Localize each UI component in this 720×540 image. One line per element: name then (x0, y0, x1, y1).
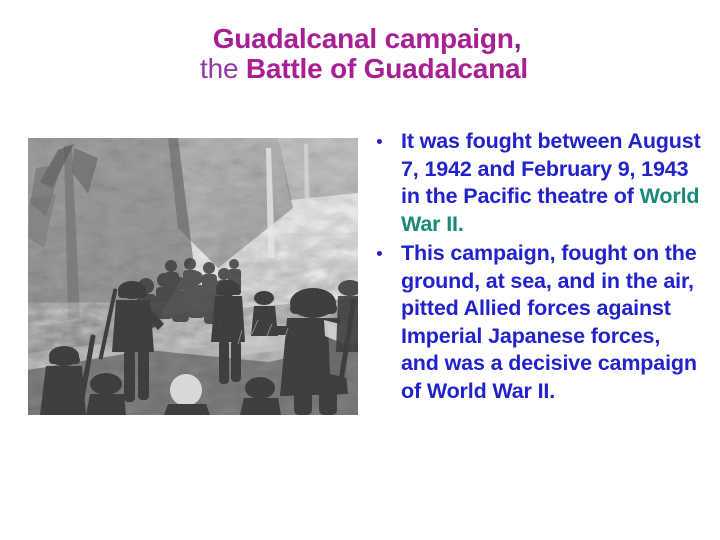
title-part-campaign: Guadalcanal campaign (213, 23, 514, 54)
bullet-dot-icon (377, 251, 382, 256)
list-item: It was fought between August 7, 1942 and… (372, 128, 702, 238)
title-line-2: the Battle of Guadalcanal (0, 54, 720, 84)
title-comma: , (514, 23, 522, 54)
page-title: Guadalcanal campaign, the Battle of Guad… (0, 24, 720, 84)
bullet-2-text: This campaign, fought on the ground, at … (401, 241, 697, 403)
title-part-battle: Battle of Guadalcanal (246, 53, 528, 84)
guadalcanal-photo (28, 138, 358, 415)
title-part-the: the (200, 53, 246, 84)
guadalcanal-photo-image (28, 138, 358, 415)
bullet-1-text-after: . (458, 212, 464, 236)
bullet-dot-icon (377, 139, 382, 144)
title-line-1: Guadalcanal campaign, (0, 24, 720, 54)
list-item: This campaign, fought on the ground, at … (372, 240, 702, 405)
bullet-list: It was fought between August 7, 1942 and… (372, 128, 702, 407)
